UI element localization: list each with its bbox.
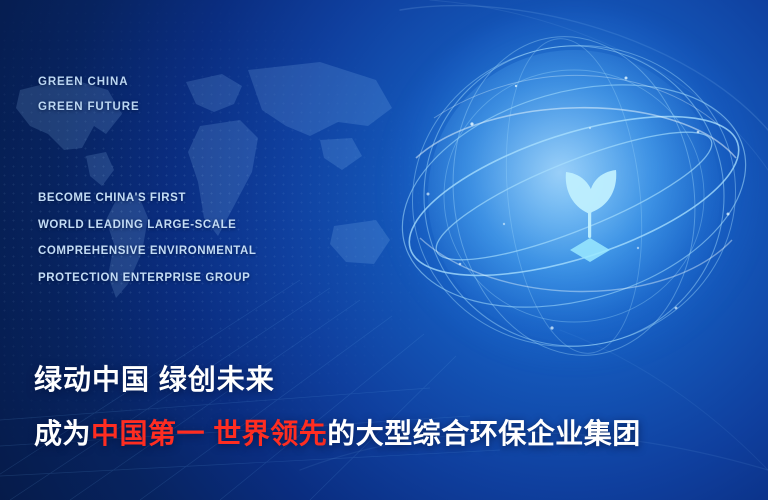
claim-line-3: COMPREHENSIVE ENVIRONMENTAL: [38, 238, 256, 265]
claim-line-2: WORLD LEADING LARGE-SCALE: [38, 212, 256, 239]
banner-hero: GREEN CHINA GREEN FUTURE BECOME CHINA'S …: [0, 0, 768, 500]
claim-line-1: BECOME CHINA'S FIRST: [38, 185, 256, 212]
claim-text: BECOME CHINA'S FIRST WORLD LEADING LARGE…: [38, 185, 256, 291]
eyebrow-text: GREEN CHINA GREEN FUTURE: [38, 70, 140, 120]
subline-suffix: 的大型综合环保企业集团: [327, 418, 641, 449]
eyebrow-line-1: GREEN CHINA: [38, 70, 140, 95]
sprout-leaf-icon: [544, 158, 636, 268]
subline: 成为中国第一 世界领先的大型综合环保企业集团: [34, 412, 641, 452]
headline: 绿动中国 绿创未来: [34, 365, 275, 394]
globe-wireframe-icon: [376, 8, 768, 368]
subline-prefix: 成为: [34, 418, 91, 449]
eyebrow-line-2: GREEN FUTURE: [38, 95, 140, 120]
subline-highlight: 中国第一 世界领先: [91, 418, 327, 449]
claim-line-4: PROTECTION ENTERPRISE GROUP: [38, 265, 256, 292]
